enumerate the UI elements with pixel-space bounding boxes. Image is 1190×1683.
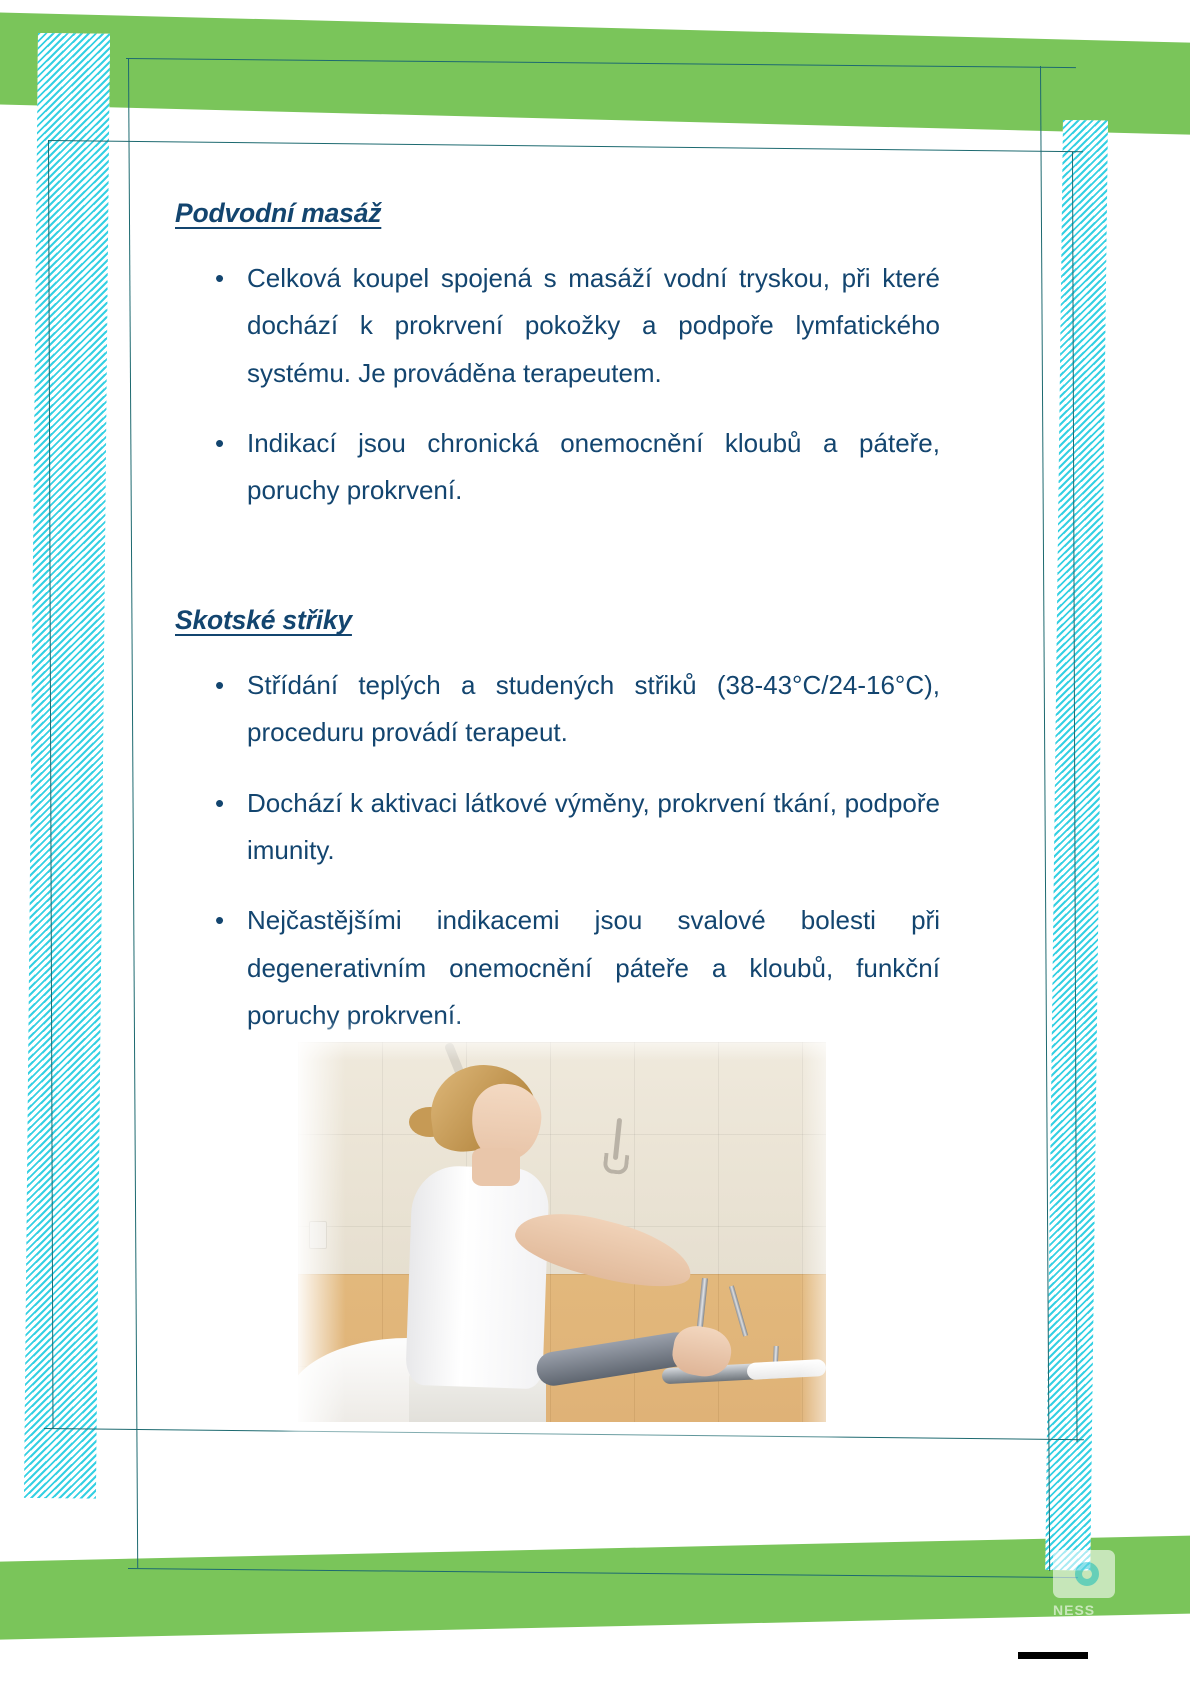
list-item: Dochází k aktivaci látkové výměny, prokr… (175, 780, 940, 875)
photo-person-neck (472, 1148, 520, 1186)
list-item: Střídání teplých a studených střiků (38-… (175, 662, 940, 757)
document-page: NESS Podvodní masáž Celková koupel spoje… (0, 0, 1190, 1683)
section-heading-podvodni-masaz: Podvodní masáž (175, 198, 381, 229)
bullet-list-skotske-striky: Střídání teplých a studených střiků (38-… (175, 662, 940, 1039)
list-item: Indikací jsou chronická onemocnění kloub… (175, 420, 940, 515)
bullet-list-podvodni-masaz: Celková koupel spojená s masáží vodní tr… (175, 255, 940, 515)
document-content: Podvodní masáž Celková koupel spojená s … (0, 0, 1190, 1683)
list-item: Celková koupel spojená s masáží vodní tr… (175, 255, 940, 397)
section-skotske-striky: Skotské střiky Střídání teplých a studen… (175, 605, 940, 1039)
therapy-photo (298, 1042, 826, 1422)
photo-wall-switch (309, 1221, 327, 1249)
photo-person-tanktop (405, 1165, 550, 1390)
list-item: Nejčastějšími indikacemi jsou svalové bo… (175, 897, 940, 1039)
section-podvodni-masaz: Podvodní masáž Celková koupel spojená s … (175, 198, 940, 515)
section-heading-skotske-striky: Skotské střiky (175, 605, 352, 636)
